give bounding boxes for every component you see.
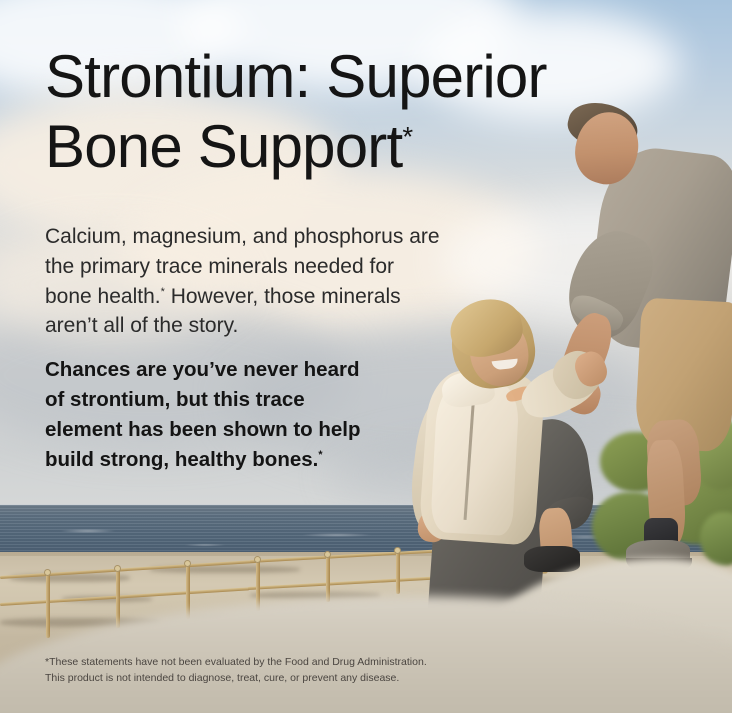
headline-footnote-marker: * <box>402 121 413 152</box>
disclaimer: *These statements have not been evaluate… <box>45 655 495 687</box>
intro-paragraph: Calcium, magnesium, and phosphorus are t… <box>45 222 445 341</box>
text-content: Strontium: SuperiorBone Support* Calcium… <box>0 0 732 713</box>
emphasis-footnote-marker: * <box>318 449 322 461</box>
page-title: Strontium: SuperiorBone Support* <box>45 42 685 181</box>
emphasis-text: Chances are you’ve never heard of stront… <box>45 358 361 471</box>
emphasis-paragraph: Chances are you’ve never heard of stront… <box>45 355 375 475</box>
headline-line-2: Bone Support <box>45 113 402 180</box>
headline-line-1: Strontium: Superior <box>45 43 547 110</box>
disclaimer-line-1: *These statements have not been evaluate… <box>45 655 495 671</box>
promo-graphic: Strontium: SuperiorBone Support* Calcium… <box>0 0 732 713</box>
disclaimer-line-2: This product is not intended to diagnose… <box>45 671 495 687</box>
